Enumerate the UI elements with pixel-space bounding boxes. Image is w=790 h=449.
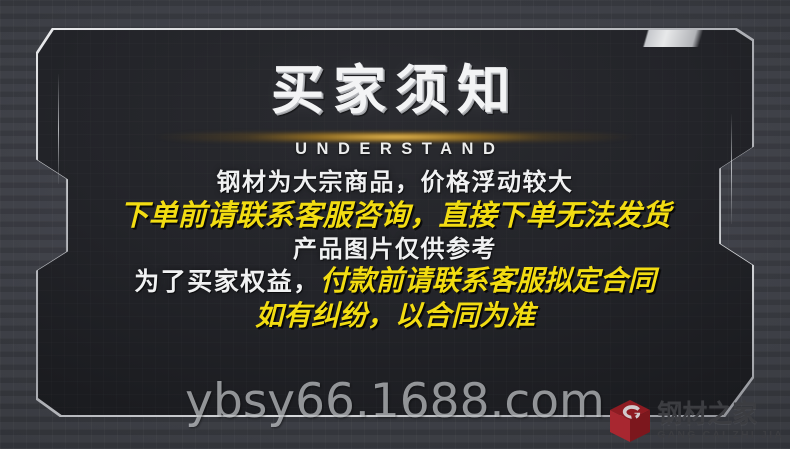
notice-line-3: 产品图片仅供参考	[36, 237, 754, 262]
notice-panel: 买家须知 UNDERSTAND 钢材为大宗商品，价格浮动较大 下单前请联系客服咨…	[36, 28, 754, 417]
notice-line-4-white-text: 为了买家权益，	[134, 267, 320, 296]
red-cube-icon	[607, 397, 653, 445]
notice-line-1-text: 钢材为大宗商品，价格浮动较大	[217, 168, 574, 196]
logo-name-cn: 钢材之家	[657, 401, 784, 426]
page-subtitle: UNDERSTAND	[36, 140, 754, 159]
logo-name-en: GANG CAI ZHI JIA	[657, 430, 784, 441]
page-title: 买家须知	[36, 64, 754, 118]
brand-logo: 钢材之家 GANG CAI ZHI JIA	[607, 397, 784, 445]
notice-text-block: 钢材为大宗商品，价格浮动较大 下单前请联系客服咨询，直接下单无法发货 产品图片仅…	[36, 170, 754, 331]
notice-line-1: 钢材为大宗商品，价格浮动较大	[36, 170, 754, 195]
notice-line-2: 下单前请联系客服咨询，直接下单无法发货	[36, 201, 754, 231]
notice-line-4-yellow-text: 付款前请联系客服拟定合同	[320, 264, 656, 297]
notice-line-5-text: 如有纠纷，以合同为准	[255, 299, 535, 332]
notice-line-2-text: 下单前请联系客服咨询，直接下单无法发货	[119, 198, 670, 232]
notice-line-5: 如有纠纷，以合同为准	[36, 302, 754, 331]
panel-content: 买家须知 UNDERSTAND 钢材为大宗商品，价格浮动较大 下单前请联系客服咨…	[36, 28, 754, 417]
poster-canvas: 买家须知 UNDERSTAND 钢材为大宗商品，价格浮动较大 下单前请联系客服咨…	[0, 0, 790, 449]
notice-line-4: 为了买家权益，付款前请联系客服拟定合同	[36, 267, 754, 296]
notice-line-3-text: 产品图片仅供参考	[293, 235, 497, 263]
logo-text-group: 钢材之家 GANG CAI ZHI JIA	[657, 401, 784, 441]
